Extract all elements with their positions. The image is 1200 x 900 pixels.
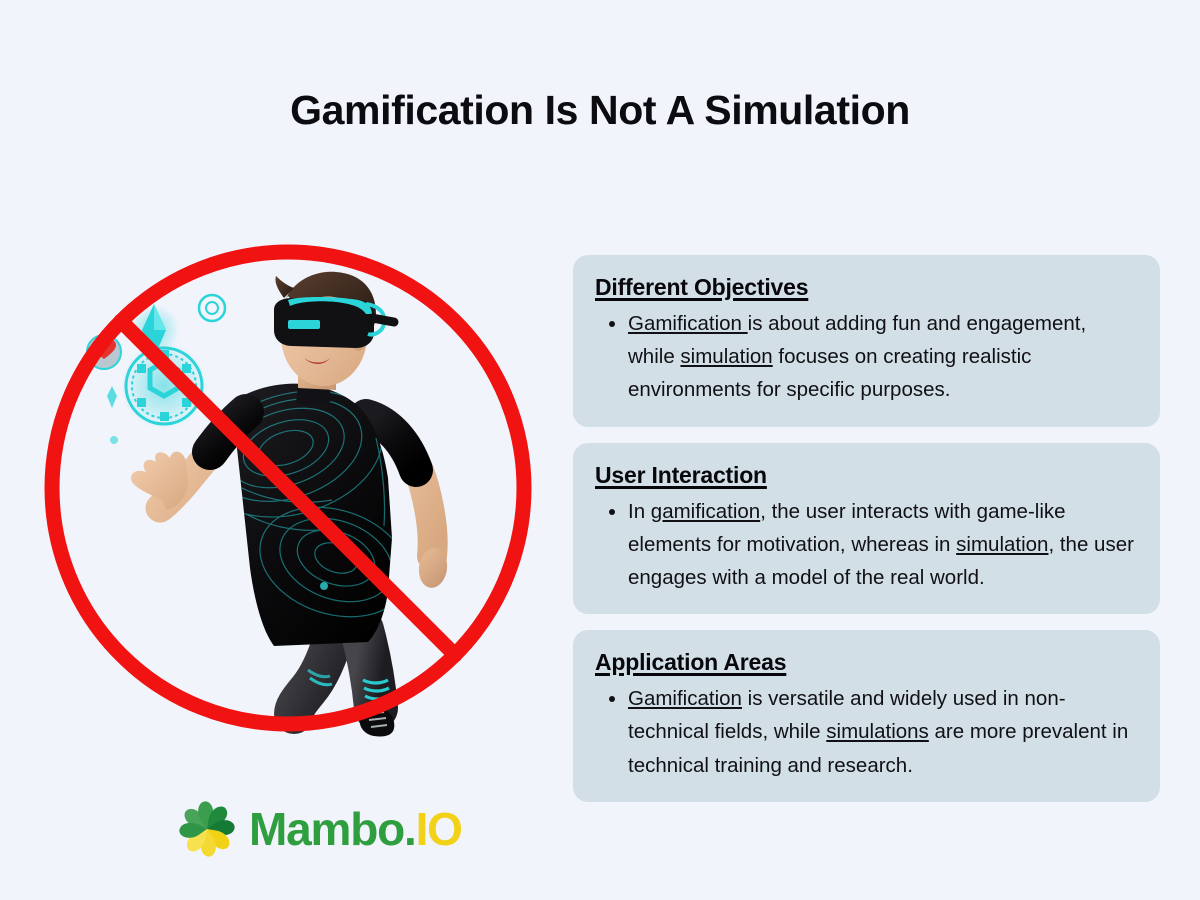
emphasis-term: simulation [956,533,1048,556]
avatar-head [274,272,394,390]
avatar-figure [131,272,450,737]
holographic-token-icon [199,295,225,321]
body-text: In [628,500,651,523]
bullet-list: Gamification is about adding fun and eng… [595,307,1138,407]
vr-headset [274,297,394,348]
mambo-logo[interactable]: Mambo.IO [178,800,462,858]
card-different-objectives: Different Objectives Gamification is abo… [573,255,1160,427]
logo-text-primary: Mambo. [249,803,416,855]
mambo-pinwheel-icon [178,800,236,858]
pinwheel-petals [178,800,236,858]
emphasis-term: Gamification [628,687,742,710]
holographic-dot-icon [110,436,118,444]
card-heading: User Interaction [595,462,1138,489]
emphasis-term: gamification [651,500,760,523]
bullet-list: In gamification, the user interacts with… [595,495,1138,595]
page-title: Gamification Is Not A Simulation [0,88,1200,133]
card-heading: Different Objectives [595,274,1138,301]
illustration-vr-avatar-prohibited [36,238,546,738]
card-heading: Application Areas [595,649,1138,676]
logo-wordmark: Mambo.IO [249,806,462,852]
illustration-svg [36,238,546,738]
bullet-item: In gamification, the user interacts with… [595,495,1138,595]
emphasis-term: simulation [680,345,772,368]
card-user-interaction: User Interaction In gamification, the us… [573,443,1160,615]
emphasis-term: Gamification [628,312,748,335]
emphasis-term: simulations [826,720,929,743]
card-application-areas: Application Areas Gamification is versat… [573,630,1160,802]
holographic-small-crystal-icon [107,386,117,408]
bullet-item: Gamification is about adding fun and eng… [595,307,1138,407]
bullet-list: Gamification is versatile and widely use… [595,682,1138,782]
content-card-list: Different Objectives Gamification is abo… [573,255,1160,802]
bullet-item: Gamification is versatile and widely use… [595,682,1138,782]
hologram-elements [87,295,225,444]
logo-text-secondary: IO [416,803,462,855]
